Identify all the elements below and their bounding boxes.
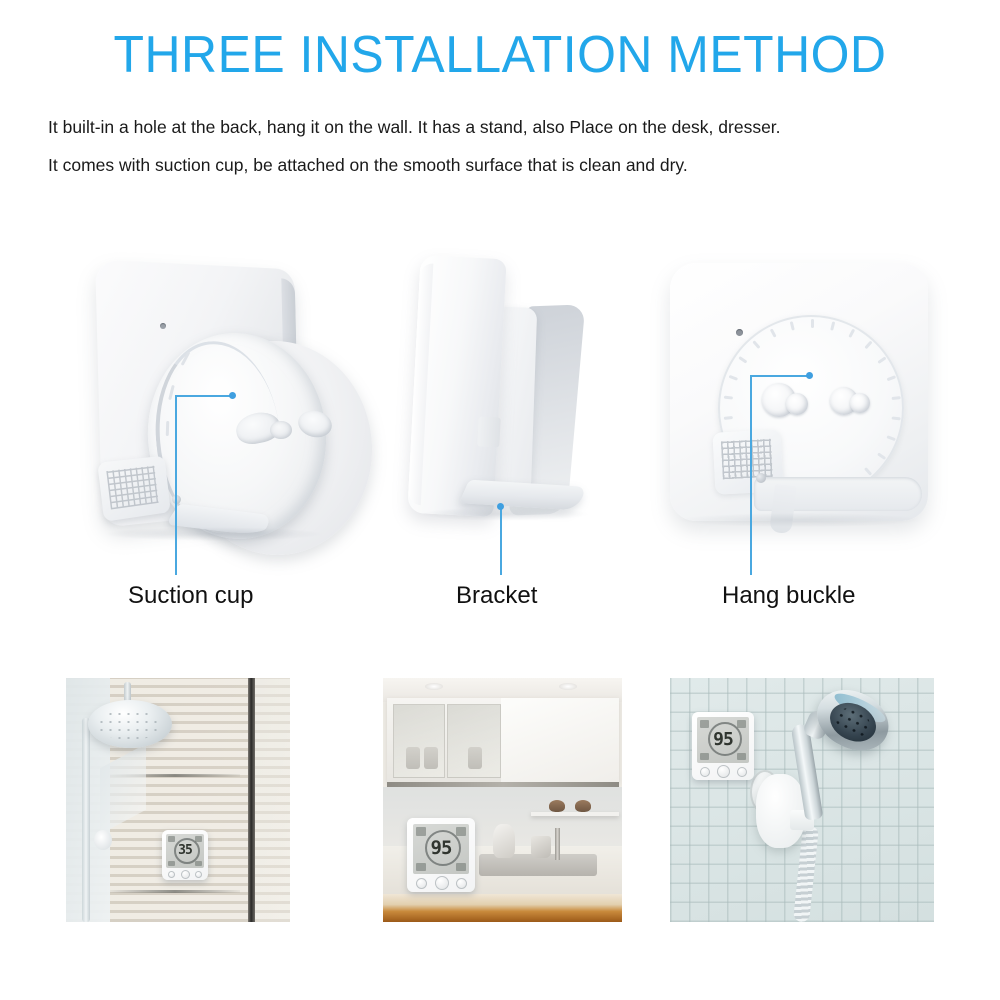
- cabinet-glass-door: [447, 704, 501, 778]
- callout-hang-buckle: Hang buckle: [640, 245, 960, 635]
- lcd-screen: 35: [166, 834, 204, 868]
- recess-tick: [729, 375, 738, 381]
- cabinet-item: [406, 747, 420, 769]
- set-button[interactable]: [435, 876, 449, 890]
- mode-button[interactable]: [168, 871, 175, 878]
- device-body: [670, 263, 928, 521]
- suction-lever-tip: [270, 421, 292, 439]
- cabinet-item: [424, 747, 438, 769]
- recess-tick: [770, 329, 776, 338]
- stand-notch: [477, 416, 501, 447]
- battery-compartment: [97, 456, 171, 522]
- drop-shadow: [420, 507, 590, 521]
- glass-panel-right: [255, 678, 290, 922]
- shower-pipe: [82, 718, 90, 922]
- drop-shadow: [680, 513, 920, 527]
- callout-label-suction-cup: Suction cup: [128, 582, 253, 610]
- leader-line-horizontal: [175, 395, 233, 397]
- recess-tick: [848, 329, 854, 338]
- set-button[interactable]: [717, 765, 730, 778]
- max-indicator: [456, 863, 466, 871]
- sensor-pinhole: [160, 323, 166, 329]
- cabinet-glass-door: [393, 704, 445, 778]
- hygrometer-device: 95: [692, 712, 754, 780]
- humidity-icon: [456, 827, 466, 836]
- lcd-reading: 95: [697, 729, 749, 750]
- shower-holder: [94, 830, 112, 850]
- recess-tick: [752, 341, 760, 349]
- callout-suction-cup: Suction cup: [60, 245, 390, 635]
- scene-shower-glass: 35: [66, 678, 290, 922]
- scene-bathroom-tile: 95: [670, 678, 934, 922]
- recess-tick: [864, 467, 872, 475]
- usage-scene-row: 35: [0, 678, 1000, 922]
- recess-tick: [877, 452, 886, 459]
- leader-dot: [229, 392, 236, 399]
- leader-line-vertical: [750, 375, 752, 575]
- recess-tick: [830, 321, 835, 330]
- recess-tick: [724, 396, 733, 400]
- cabinet-solid-door: [501, 698, 619, 782]
- screw-icon: [756, 473, 766, 483]
- description-line-2: It comes with suction cup, be attached o…: [48, 146, 952, 184]
- temperature-icon: [700, 720, 709, 728]
- infographic-page: THREE INSTALLATION METHOD It built-in a …: [0, 0, 1000, 1000]
- glass-door-frame: [248, 678, 255, 922]
- cup-tick: [166, 421, 170, 436]
- recess-tick: [724, 416, 733, 420]
- device-on-glass: 35: [162, 830, 208, 880]
- hygrometer-device: 35: [162, 830, 208, 880]
- mode-button[interactable]: [416, 878, 427, 889]
- callout-bracket: Bracket: [390, 245, 640, 635]
- max-indicator: [737, 753, 746, 760]
- ceiling-light: [425, 683, 443, 690]
- shower-head-nozzle-face: [824, 696, 883, 749]
- max-indicator: [195, 861, 202, 866]
- recess-tick: [887, 375, 896, 381]
- recess-tick: [811, 319, 814, 328]
- temperature-icon: [416, 827, 426, 836]
- lcd-reading: 95: [413, 837, 469, 859]
- min-indicator: [168, 861, 175, 866]
- min-indicator: [700, 753, 709, 760]
- recess-tick: [790, 321, 795, 330]
- faucet: [555, 828, 560, 860]
- vent-grille-icon: [106, 466, 158, 510]
- leader-line-vertical: [175, 395, 177, 575]
- ceiling-light: [559, 683, 577, 690]
- page-title: THREE INSTALLATION METHOD: [20, 26, 980, 84]
- device-body: [407, 255, 506, 517]
- scene-kitchen-counter: 95: [383, 678, 622, 922]
- shelf-bowl: [575, 800, 591, 812]
- vent-grille-icon: [721, 439, 773, 480]
- leader-dot: [497, 503, 504, 510]
- leader-line-vertical: [500, 507, 502, 575]
- recess-tick: [892, 396, 901, 400]
- page-description: It built-in a hole at the back, hang it …: [48, 108, 952, 184]
- shelf-bowl: [549, 800, 565, 812]
- hang-buckle-keyhole-right-tip: [850, 393, 870, 413]
- wooden-counter-edge: [383, 894, 622, 922]
- humidity-icon: [737, 720, 746, 728]
- leader-dot: [806, 372, 813, 379]
- recess-tick: [738, 356, 747, 363]
- device-on-tile-wall: 95: [692, 712, 754, 780]
- hang-buckle-keyhole-left-tip: [786, 393, 808, 415]
- lcd-reading: 35: [166, 843, 204, 858]
- min-indicator: [416, 863, 426, 871]
- kettle: [493, 824, 515, 858]
- mode-button[interactable]: [700, 767, 710, 777]
- blind-rail: [110, 890, 240, 893]
- callout-label-bracket: Bracket: [456, 582, 537, 610]
- recess-tick: [864, 341, 872, 349]
- reset-button[interactable]: [456, 878, 467, 889]
- cabinet-item: [468, 747, 482, 769]
- rain-shower-head: [88, 700, 172, 748]
- lcd-screen: 95: [697, 717, 749, 763]
- drop-shadow: [104, 527, 324, 541]
- callout-label-hang-buckle: Hang buckle: [722, 582, 855, 610]
- device-on-counter: 95: [407, 818, 475, 892]
- temperature-icon: [168, 836, 175, 842]
- reset-button[interactable]: [737, 767, 747, 777]
- recess-tick: [877, 356, 886, 363]
- wall-shelf: [531, 812, 619, 816]
- recess-tick: [887, 435, 896, 441]
- lcd-screen: 95: [413, 824, 469, 874]
- reset-button[interactable]: [195, 871, 202, 878]
- leader-line-horizontal: [750, 375, 810, 377]
- pot: [531, 836, 551, 858]
- hygrometer-device: 95: [407, 818, 475, 892]
- recess-tick: [892, 416, 901, 420]
- set-button[interactable]: [181, 870, 190, 879]
- description-line-1: It built-in a hole at the back, hang it …: [48, 108, 952, 146]
- product-callout-row: Suction cup Bracket: [0, 245, 1000, 635]
